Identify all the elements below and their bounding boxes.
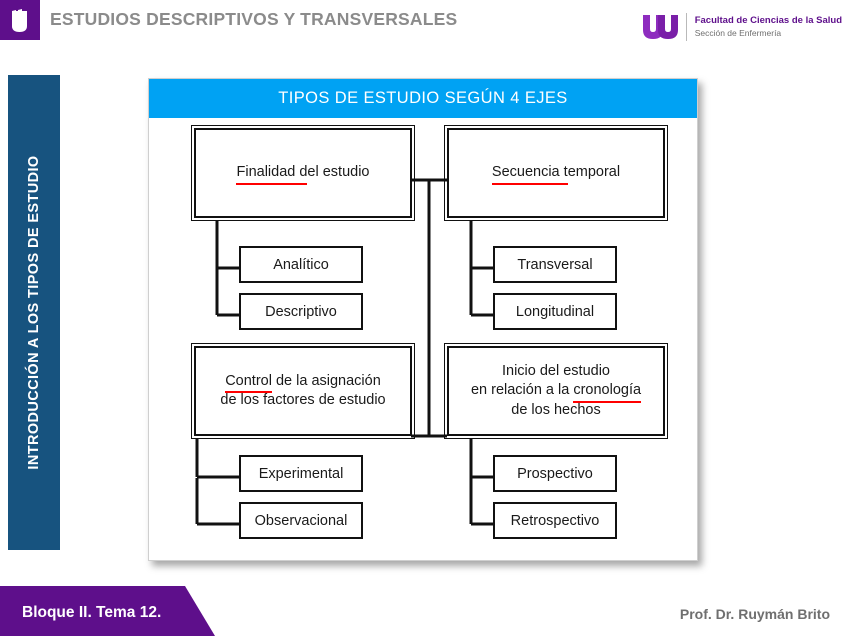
- node-experimental-label: Experimental: [259, 466, 344, 482]
- node-experimental[interactable]: Experimental: [239, 455, 363, 492]
- node-analitico-label: Analítico: [273, 257, 329, 273]
- node-secuencia-label-underline: Secuencia t: [492, 163, 568, 182]
- node-control-label-line1: Control de la asignación: [225, 373, 381, 389]
- ull-monogram-icon: [0, 0, 40, 40]
- faculty-logo: Facultad de Ciencias de la Salud Sección…: [639, 10, 842, 44]
- diagram-panel: TIPOS DE ESTUDIO SEGÚN 4 EJES: [148, 78, 698, 561]
- diagram-canvas: Finalidad del estudio Secuencia temporal…: [149, 118, 697, 562]
- node-analitico[interactable]: Analítico: [239, 246, 363, 283]
- faculty-section: Sección de Enfermería: [695, 28, 842, 39]
- ull-double-u-glyph: [639, 12, 679, 42]
- page-title: ESTUDIOS DESCRIPTIVOS Y TRANSVERSALES: [50, 9, 457, 30]
- node-inicio-label-line2: en relación a la cronología: [471, 382, 641, 398]
- node-inicio-text: Inicio del estudio en relación a la cron…: [465, 362, 647, 419]
- node-prospectivo-label: Prospectivo: [517, 466, 593, 482]
- faculty-logo-text: Facultad de Ciencias de la Salud Sección…: [695, 15, 842, 39]
- node-observacional[interactable]: Observacional: [239, 502, 363, 539]
- node-control-text: Control de la asignación de los factores…: [214, 372, 391, 410]
- footer-block-label: Bloque II. Tema 12.: [22, 604, 161, 622]
- node-retrospectivo-label: Retrospectivo: [511, 513, 600, 529]
- node-finalidad-label: Finalidad del estudio: [236, 164, 369, 180]
- node-finalidad-text: Finalidad del estudio: [230, 163, 375, 182]
- node-secuencia-temporal[interactable]: Secuencia temporal: [447, 128, 665, 218]
- logo-divider: [686, 13, 687, 41]
- sidebar-label: INTRODUCCIÓN A LOS TIPOS DE ESTUDIO: [8, 75, 60, 550]
- node-control-label-line1-underline: Control: [225, 372, 272, 391]
- node-longitudinal[interactable]: Longitudinal: [493, 293, 617, 330]
- node-observacional-label: Observacional: [255, 513, 348, 529]
- faculty-name: Facultad de Ciencias de la Salud: [695, 15, 842, 27]
- node-inicio-label-line3: de los hechos: [511, 402, 600, 418]
- diagram-title: TIPOS DE ESTUDIO SEGÚN 4 EJES: [149, 79, 697, 118]
- ull-double-u-icon: [639, 12, 679, 42]
- node-control-asignacion[interactable]: Control de la asignación de los factores…: [194, 346, 412, 436]
- node-control-label-line2: de los factores de estudio: [220, 392, 385, 408]
- node-secuencia-text: Secuencia temporal: [486, 163, 626, 182]
- node-inicio-label-line2-underline: cronología: [573, 381, 641, 400]
- section-sidebar: INTRODUCCIÓN A LOS TIPOS DE ESTUDIO: [8, 75, 60, 550]
- node-prospectivo[interactable]: Prospectivo: [493, 455, 617, 492]
- node-finalidad-label-underline: Finalidad d: [236, 163, 307, 182]
- node-longitudinal-label: Longitudinal: [516, 304, 594, 320]
- slide-footer: Bloque II. Tema 12. Prof. Dr. Ruymán Bri…: [0, 586, 848, 636]
- node-inicio-label-line1: Inicio del estudio: [502, 363, 610, 379]
- node-descriptivo-label: Descriptivo: [265, 304, 337, 320]
- node-transversal[interactable]: Transversal: [493, 246, 617, 283]
- node-retrospectivo[interactable]: Retrospectivo: [493, 502, 617, 539]
- footer-author: Prof. Dr. Ruymán Brito: [680, 606, 830, 622]
- ull-monogram-glyph: [0, 0, 40, 40]
- node-inicio-estudio[interactable]: Inicio del estudio en relación a la cron…: [447, 346, 665, 436]
- node-descriptivo[interactable]: Descriptivo: [239, 293, 363, 330]
- node-transversal-label: Transversal: [517, 257, 592, 273]
- node-secuencia-label: Secuencia temporal: [492, 164, 620, 180]
- node-finalidad-del-estudio[interactable]: Finalidad del estudio: [194, 128, 412, 218]
